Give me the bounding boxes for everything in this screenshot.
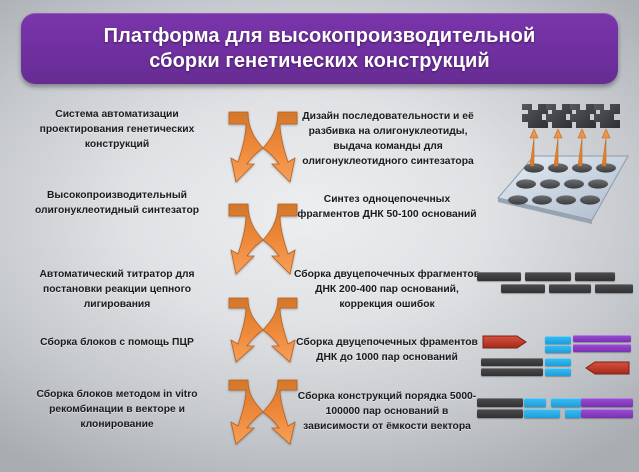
primer-reverse-icon bbox=[586, 362, 629, 374]
construct-purple-top bbox=[581, 398, 633, 407]
text-design-automation: Система автоматизации проектирования ген… bbox=[14, 108, 220, 153]
pcr-cyan-top-2 bbox=[545, 345, 571, 353]
title-line-2: сборки генетических конструкций bbox=[104, 49, 536, 73]
assembled-construct-illustration bbox=[477, 398, 635, 424]
pcr-purple-top-1 bbox=[573, 335, 631, 342]
pcr-primers-illustration bbox=[477, 334, 635, 380]
text-invitro-recombination: Сборка блоков методом in vitro рекомбина… bbox=[14, 388, 220, 433]
text-pcr-block-assembly: Сборка блоков с помощь ПЦР bbox=[14, 336, 220, 351]
pcr-cyan-bottom-2 bbox=[545, 368, 571, 376]
dna-bar-top-1 bbox=[477, 272, 521, 281]
construct-cyan-top-2 bbox=[551, 398, 581, 407]
arrow-cluster-1 bbox=[226, 106, 300, 190]
dna-bar-bottom-3 bbox=[595, 284, 633, 293]
construct-gray-bottom bbox=[477, 409, 523, 418]
pcr-purple-top-2 bbox=[573, 344, 631, 352]
slide-canvas: Платформа для высокопроизводительной сбо… bbox=[0, 0, 639, 472]
construct-cyan-bottom-1 bbox=[524, 409, 560, 418]
pcr-gray-bottom-2 bbox=[481, 368, 543, 376]
pcr-gray-bottom-1 bbox=[481, 358, 543, 366]
text-construct-assembly: Сборка конструкций порядка 5000-100000 п… bbox=[292, 390, 482, 435]
title-line-1: Платформа для высокопроизводительной bbox=[104, 24, 536, 48]
construct-gray-top bbox=[477, 398, 523, 407]
construct-purple-bottom bbox=[581, 409, 633, 418]
page-title: Платформа для высокопроизводительной сбо… bbox=[92, 24, 548, 73]
pcr-cyan-bottom-1 bbox=[545, 358, 571, 366]
text-dsdna-200-400: Сборка двуцепочечных фрагментов ДНК 200-… bbox=[292, 268, 482, 313]
construct-cyan-top-1 bbox=[524, 398, 546, 407]
text-ssdna-synthesis: Синтез одноцепочечных фрагментов ДНК 50-… bbox=[292, 193, 482, 223]
text-dsdna-1000: Сборка двуцепочечных фраментов ДНК до 10… bbox=[292, 336, 482, 366]
dna-bar-top-3 bbox=[575, 272, 615, 281]
construct-cyan-bottom-2 bbox=[565, 409, 581, 418]
text-sequence-design: Дизайн последовательности и её разбивка … bbox=[288, 110, 488, 170]
text-oligo-synthesizer: Высокопроизводительный олигонуклеотидный… bbox=[14, 189, 220, 219]
primer-forward-icon bbox=[483, 336, 526, 348]
synthesizer-heads bbox=[522, 104, 620, 128]
slide-title-banner: Платформа для высокопроизводительной сбо… bbox=[21, 13, 618, 84]
pcr-cyan-top bbox=[545, 336, 571, 344]
arrow-cluster-4 bbox=[226, 368, 300, 452]
staggered-dna-bars-illustration bbox=[477, 272, 633, 304]
text-auto-titrator: Автоматический титратор для постановки р… bbox=[14, 268, 220, 313]
dna-bar-bottom-1 bbox=[501, 284, 545, 293]
dna-bar-top-2 bbox=[525, 272, 571, 281]
dna-bar-bottom-2 bbox=[549, 284, 591, 293]
microarray-plate-illustration bbox=[476, 98, 632, 230]
arrow-cluster-2 bbox=[226, 198, 300, 282]
arrow-cluster-3 bbox=[226, 288, 300, 372]
